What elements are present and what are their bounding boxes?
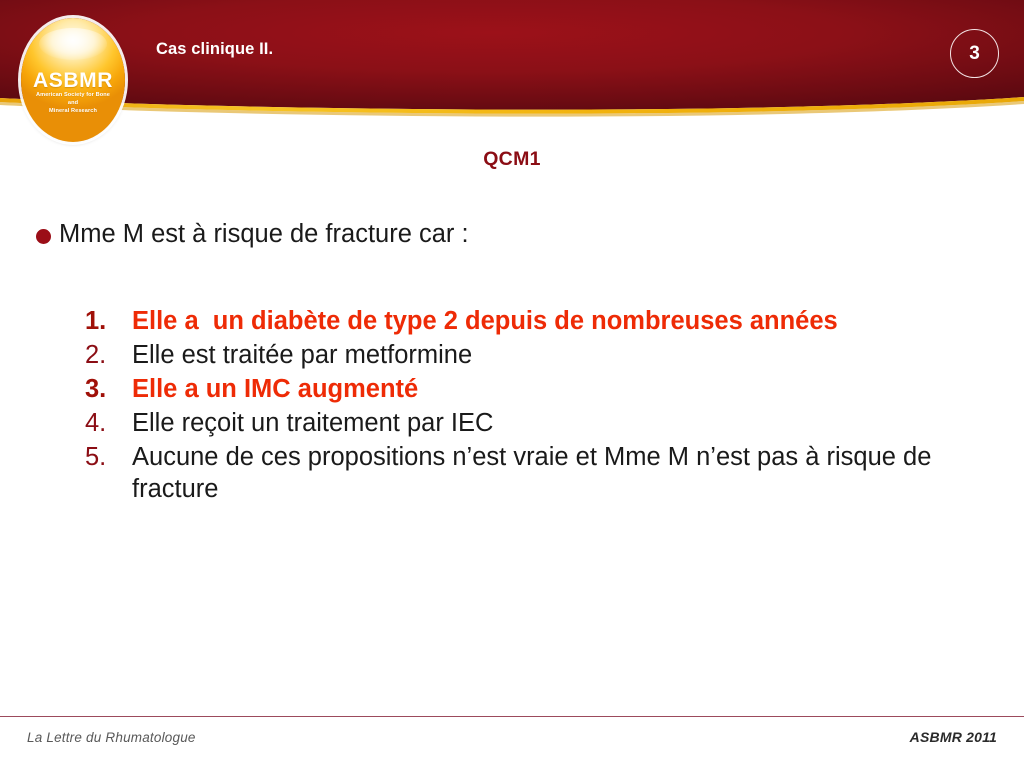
lead-statement: Mme M est à risque de fracture car :: [36, 219, 976, 251]
lead-statement-text: Mme M est à risque de fracture car :: [59, 219, 469, 251]
page-number-value: 3: [951, 30, 998, 77]
option-number: 1.: [85, 305, 132, 338]
option-text: Elle a un IMC augmenté: [132, 373, 990, 406]
header-title: Cas clinique II.: [156, 40, 273, 59]
list-item: 3. Elle a un IMC augmenté: [85, 373, 990, 406]
asbmr-logo-subtitle-line3: Mineral Research: [27, 108, 119, 116]
option-text: Elle reçoit un traitement par IEC: [132, 407, 990, 440]
footer-divider: [0, 716, 1024, 717]
page-number-badge: 3: [950, 29, 999, 78]
slide-header: Cas clinique II. 3: [0, 0, 1024, 118]
option-text: Elle est traitée par metformine: [132, 339, 990, 372]
list-item: 1. Elle a un diabète de type 2 depuis de…: [85, 305, 990, 338]
header-band-graphic: [0, 0, 1024, 118]
slide: Cas clinique II. 3 ASBMR American Societ…: [0, 0, 1024, 768]
options-list: 1. Elle a un diabète de type 2 depuis de…: [85, 305, 990, 507]
footer-attribution: ASBMR 2011: [910, 729, 997, 745]
option-number: 4.: [85, 407, 132, 440]
asbmr-logo-acronym: ASBMR: [21, 70, 125, 91]
option-text: Aucune de ces propositions n’est vraie e…: [132, 441, 990, 507]
option-number: 3.: [85, 373, 132, 406]
option-number: 2.: [85, 339, 132, 372]
footer-source: La Lettre du Rhumatologue: [27, 730, 196, 745]
asbmr-logo: ASBMR American Society for Bone and Mine…: [21, 18, 125, 142]
asbmr-logo-gloss-icon: [39, 28, 108, 60]
list-item: 2. Elle est traitée par metformine: [85, 339, 990, 372]
option-number: 5.: [85, 441, 132, 474]
list-item: 4. Elle reçoit un traitement par IEC: [85, 407, 990, 440]
asbmr-logo-disc: ASBMR American Society for Bone and Mine…: [21, 18, 125, 142]
list-item: 5. Aucune de ces propositions n’est vrai…: [85, 441, 990, 507]
bullet-icon: [36, 229, 51, 244]
option-text: Elle a un diabète de type 2 depuis de no…: [132, 305, 990, 338]
section-title: QCM1: [0, 148, 1024, 171]
asbmr-logo-subtitle: American Society for Bone and Mineral Re…: [21, 92, 125, 116]
